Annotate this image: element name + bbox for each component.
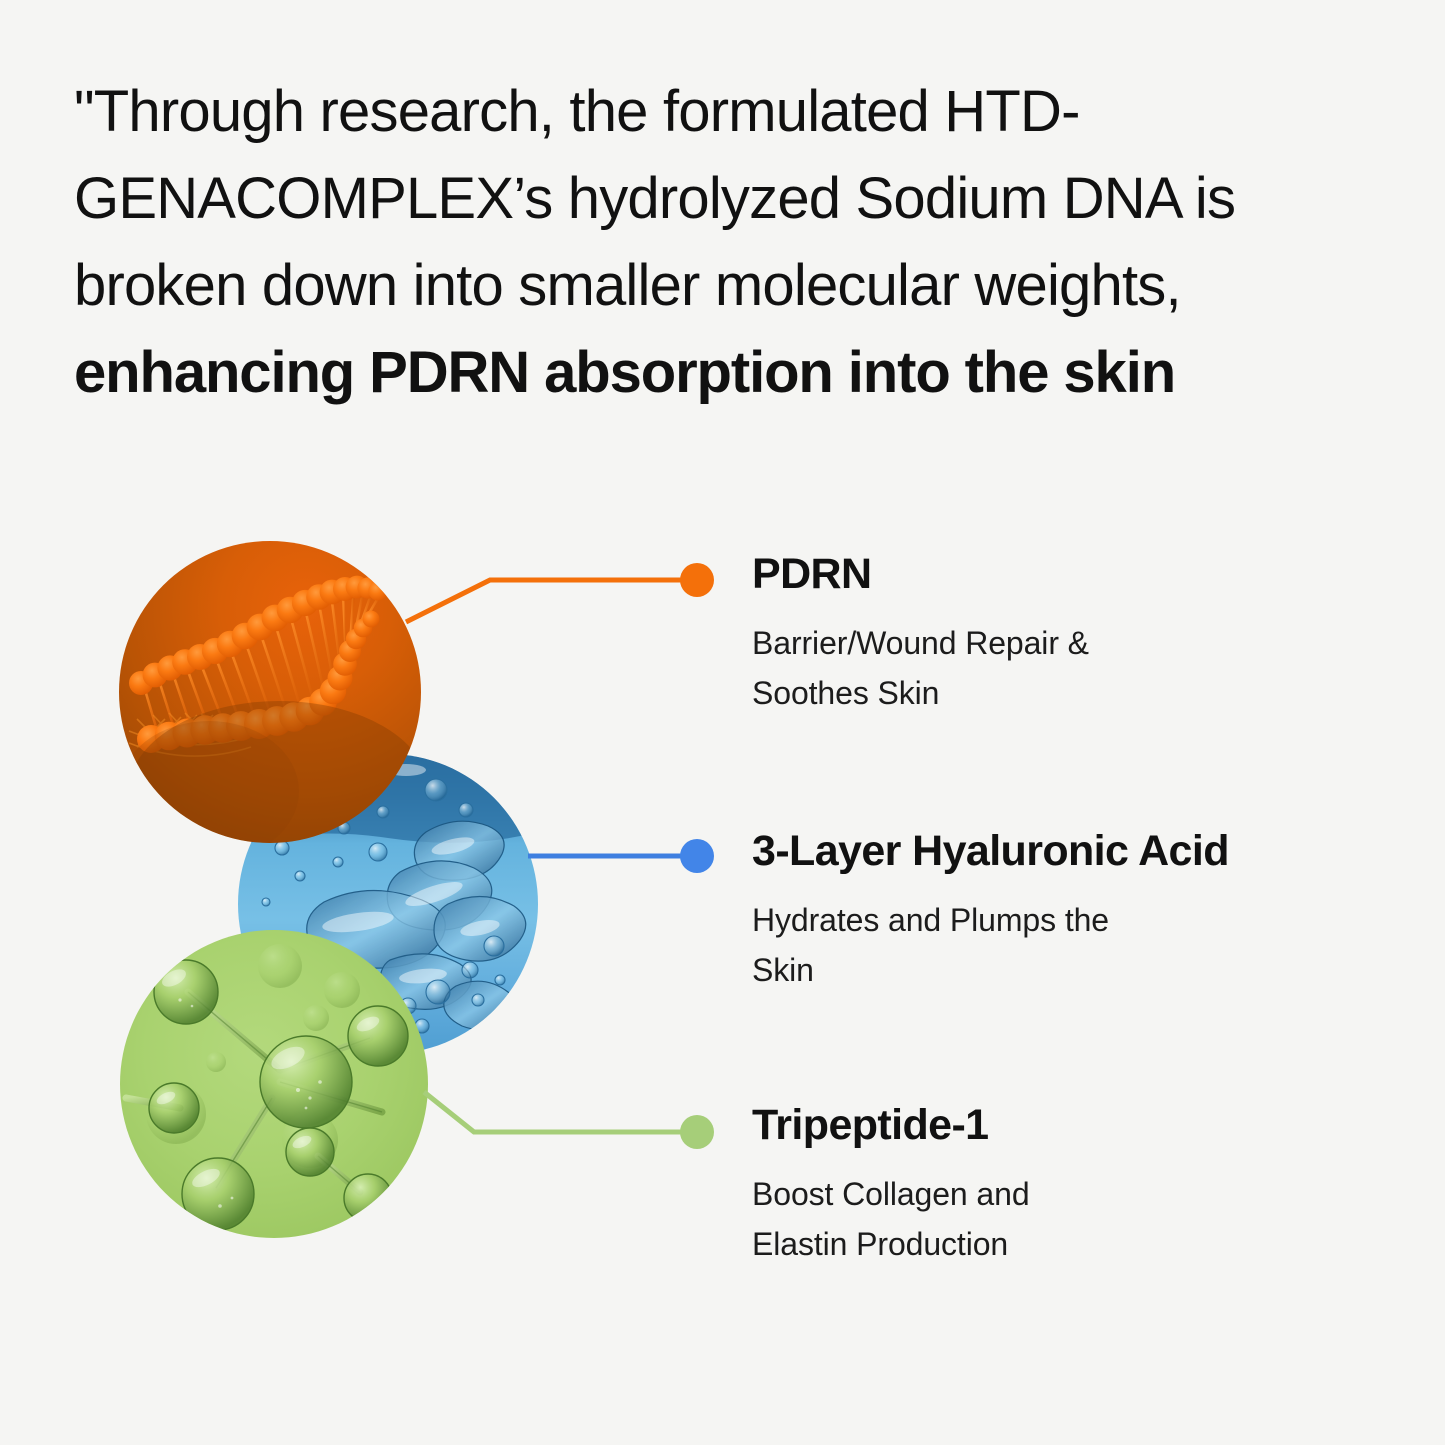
connector-line-tripeptide-1 [424, 1092, 688, 1132]
ingredient-description-pdrn-line-1: Barrier/Wound Repair & [752, 625, 1089, 661]
connector-dot-hyaluronic-acid [680, 839, 714, 873]
ingredient-title-pdrn: PDRN [752, 553, 1352, 596]
ingredient-infographic: "Through research, the formulated HTD- G… [0, 0, 1445, 1445]
ingredient-title-tripeptide-1: Tripeptide-1 [752, 1104, 1352, 1147]
ingredient-description-pdrn-line-2: Soothes Skin [752, 675, 939, 711]
connector-line-pdrn [406, 580, 688, 622]
ingredient-title-hyaluronic-acid: 3-Layer Hyaluronic Acid [752, 830, 1352, 873]
ingredient-description-tripeptide-1-line-2: Elastin Production [752, 1226, 1008, 1262]
connector-dot-tripeptide-1 [680, 1115, 714, 1149]
circle-image-tripeptide-1 [120, 930, 428, 1238]
molecule-spheres-icon [120, 930, 428, 1238]
ingredient-description-hyaluronic-acid: Hydrates and Plumps the Skin [752, 895, 1252, 995]
circle-image-pdrn [119, 541, 421, 843]
ingredient-label-pdrn: PDRN Barrier/Wound Repair & Soothes Skin [752, 553, 1352, 718]
ingredient-diagram: PDRN Barrier/Wound Repair & Soothes Skin… [0, 0, 1445, 1445]
ingredient-description-hyaluronic-acid-line-2: Skin [752, 952, 814, 988]
ingredient-description-pdrn: Barrier/Wound Repair & Soothes Skin [752, 618, 1222, 718]
ingredient-description-tripeptide-1-line-1: Boost Collagen and [752, 1176, 1030, 1212]
dna-helix-icon [119, 541, 421, 843]
ingredient-description-hyaluronic-acid-line-1: Hydrates and Plumps the [752, 902, 1109, 938]
ingredient-description-tripeptide-1: Boost Collagen and Elastin Production [752, 1169, 1222, 1269]
connector-dot-pdrn [680, 563, 714, 597]
ingredient-label-hyaluronic-acid: 3-Layer Hyaluronic Acid Hydrates and Plu… [752, 830, 1352, 995]
ingredient-label-tripeptide-1: Tripeptide-1 Boost Collagen and Elastin … [752, 1104, 1352, 1269]
